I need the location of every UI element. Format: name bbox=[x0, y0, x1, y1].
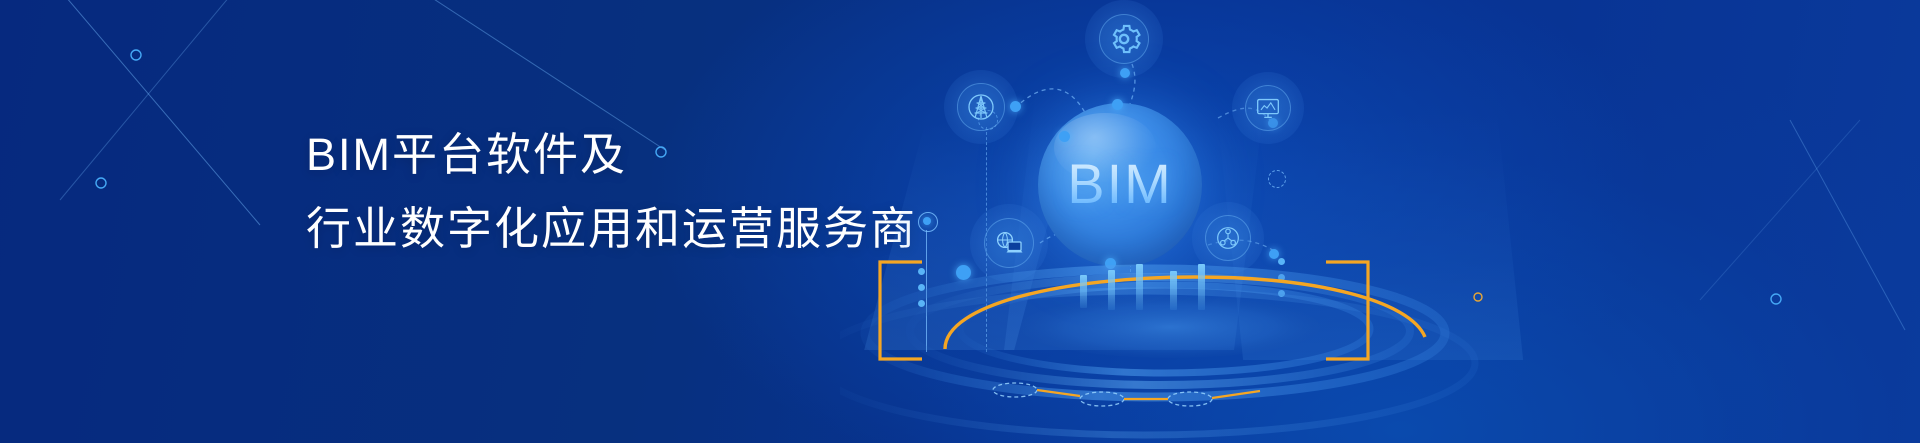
sphere-label: BIM bbox=[1038, 151, 1202, 216]
monitor-icon bbox=[1253, 93, 1283, 123]
globe-laptop-icon bbox=[992, 226, 1026, 260]
node-dot bbox=[1010, 101, 1021, 112]
data-bar bbox=[1108, 270, 1115, 310]
share-network-icon bbox=[1213, 223, 1243, 253]
bracket-right bbox=[1318, 258, 1378, 363]
gear-icon-bubble[interactable] bbox=[1085, 0, 1163, 78]
data-bar bbox=[1198, 264, 1205, 310]
gear-icon bbox=[1107, 22, 1141, 56]
hero-banner: BIM平台软件及 行业数字化应用和运营服务商 BIM bbox=[0, 0, 1920, 443]
node-dot bbox=[923, 217, 931, 225]
headline-line-1: BIM平台软件及 bbox=[306, 118, 917, 192]
node-dot bbox=[1112, 99, 1123, 110]
bracket-left bbox=[870, 258, 930, 363]
data-bar bbox=[1080, 275, 1087, 308]
node-dot bbox=[1059, 131, 1070, 142]
power-tower-icon-bubble[interactable] bbox=[944, 70, 1018, 144]
radar-rings bbox=[840, 235, 1920, 443]
headline-line-2: 行业数字化应用和运营服务商 bbox=[306, 192, 917, 266]
page-title: BIM平台软件及 行业数字化应用和运营服务商 bbox=[306, 118, 917, 266]
data-bar bbox=[1136, 264, 1143, 310]
bim-illustration: BIM bbox=[840, 0, 1920, 443]
node-dot bbox=[1120, 68, 1130, 78]
hollow-ring bbox=[1268, 170, 1286, 188]
data-bar bbox=[1170, 271, 1177, 310]
power-tower-icon bbox=[965, 91, 997, 123]
monitor-icon-bubble[interactable] bbox=[1232, 72, 1304, 144]
